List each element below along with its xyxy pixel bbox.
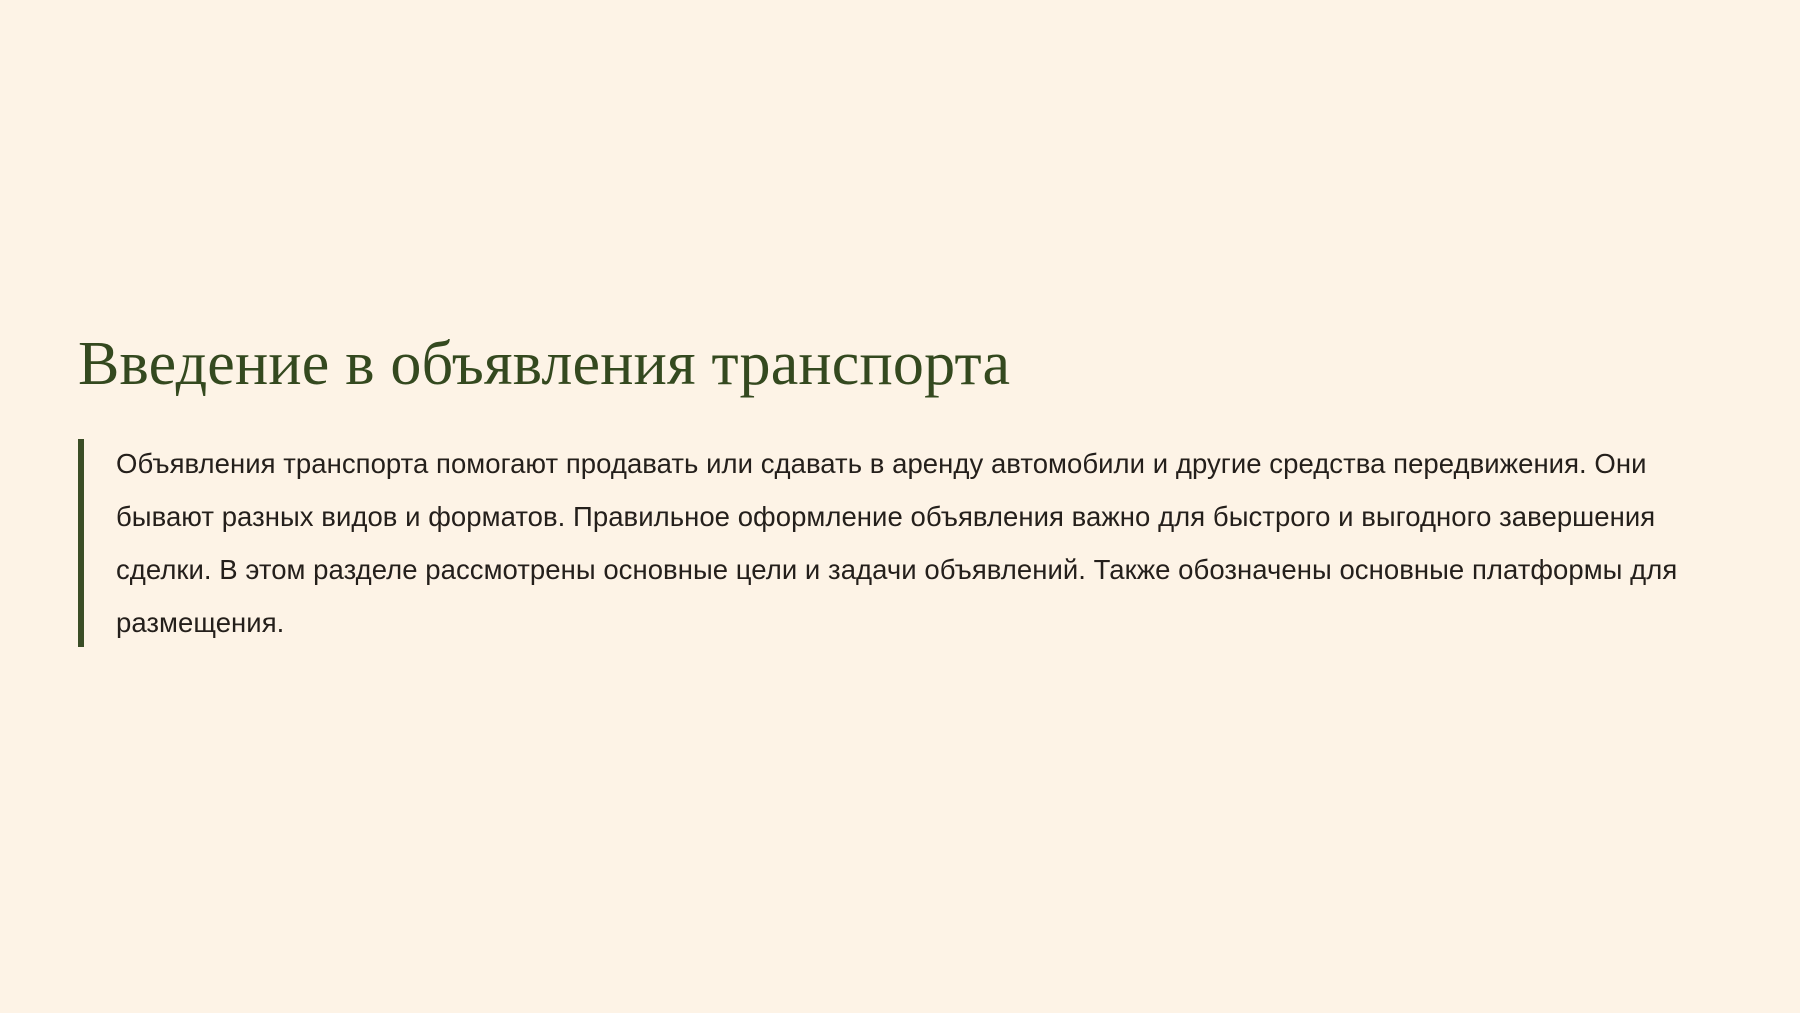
body-callout-block: Объявления транспорта помогают продавать… [78, 437, 1758, 649]
slide-content: Введение в объявления транспорта Объявле… [78, 330, 1758, 649]
page-title: Введение в объявления транспорта [78, 330, 1758, 399]
body-paragraph: Объявления транспорта помогают продавать… [116, 437, 1744, 649]
slide-canvas: Введение в объявления транспорта Объявле… [0, 0, 1800, 1013]
accent-bar [78, 439, 84, 647]
